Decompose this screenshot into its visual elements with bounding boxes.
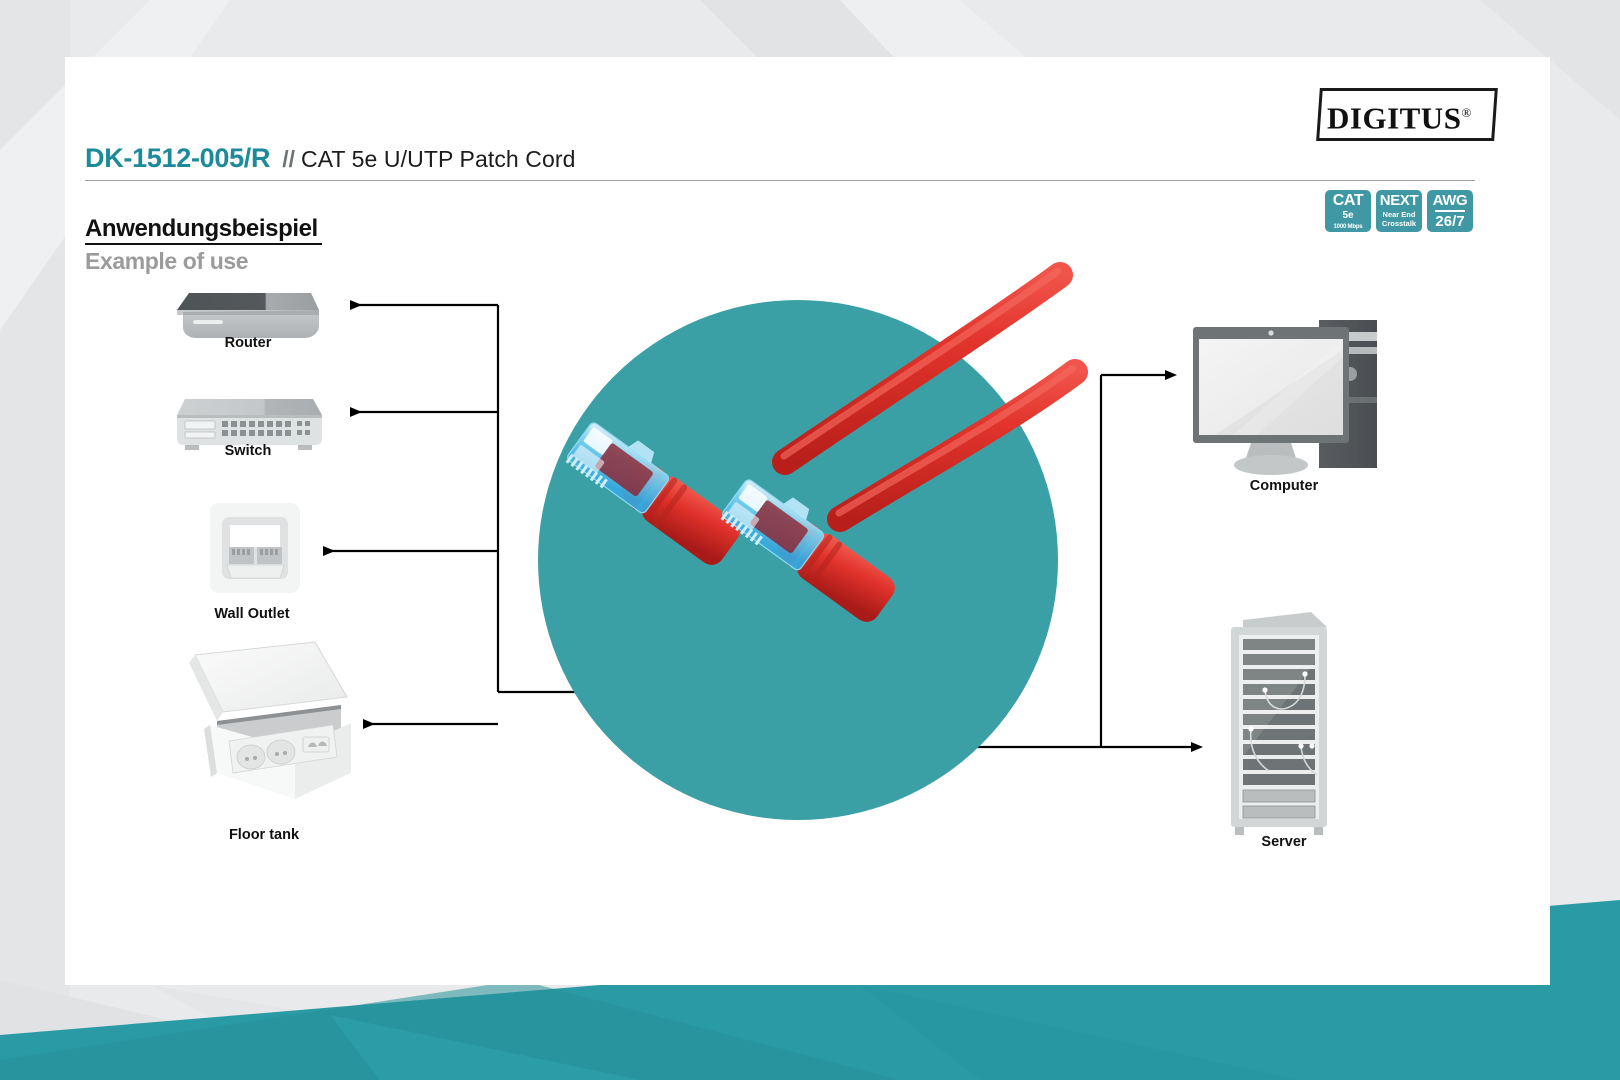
computer-illustration <box>1193 320 1377 475</box>
label-computer: Computer <box>1214 478 1354 494</box>
label-server: Server <box>1214 834 1354 850</box>
cat-badge: CAT 5e 1000 Mbps <box>1325 190 1371 232</box>
floor-tank-illustration <box>189 642 351 809</box>
cat-badge-line3: 1000 Mbps <box>1334 224 1363 230</box>
awg-badge-line2: 26/7 <box>1435 214 1464 229</box>
label-router: Router <box>178 335 318 351</box>
label-floor-tank: Floor tank <box>194 827 334 843</box>
awg-badge: AWG 26/7 <box>1427 190 1473 232</box>
next-badge: NEXT Near End Crosstalk <box>1376 190 1422 232</box>
awg-badge-line1: AWG <box>1433 193 1468 208</box>
digitus-logo-text: DIGITUS® <box>1327 92 1497 134</box>
registered-trademark-icon: ® <box>1461 105 1471 120</box>
spec-badge-group: CAT 5e 1000 Mbps NEXT Near End Crosstalk… <box>1325 190 1473 232</box>
label-switch: Switch <box>178 443 318 459</box>
section-title-underline <box>85 243 322 245</box>
page-title: DK-1512-005/R//CAT 5e U/UTP Patch Cord <box>85 143 1475 177</box>
wall-outlet-illustration <box>210 503 300 593</box>
title-divider <box>85 180 1475 181</box>
section-title-de: Anwendungsbeispiel <box>85 215 318 243</box>
product-name: CAT 5e U/UTP Patch Cord <box>301 146 576 172</box>
section-title-en: Example of use <box>85 248 248 275</box>
server-illustration <box>1231 612 1327 835</box>
cat-badge-line2: 5e <box>1342 211 1353 221</box>
awg-badge-divider <box>1435 210 1465 212</box>
product-photo-circle <box>538 271 1075 820</box>
next-badge-line1: NEXT <box>1380 193 1418 208</box>
product-sku: DK-1512-005/R <box>85 143 270 173</box>
label-wall-outlet: Wall Outlet <box>182 606 322 622</box>
title-separator: // <box>282 146 295 172</box>
next-badge-line2: Near End Crosstalk <box>1382 211 1416 228</box>
logo-wordmark: DIGITUS <box>1327 100 1461 135</box>
monitor-base <box>1234 455 1308 475</box>
router-illustration <box>177 293 319 338</box>
cat-badge-line1: CAT <box>1333 193 1364 209</box>
webcam-icon <box>1268 330 1273 335</box>
